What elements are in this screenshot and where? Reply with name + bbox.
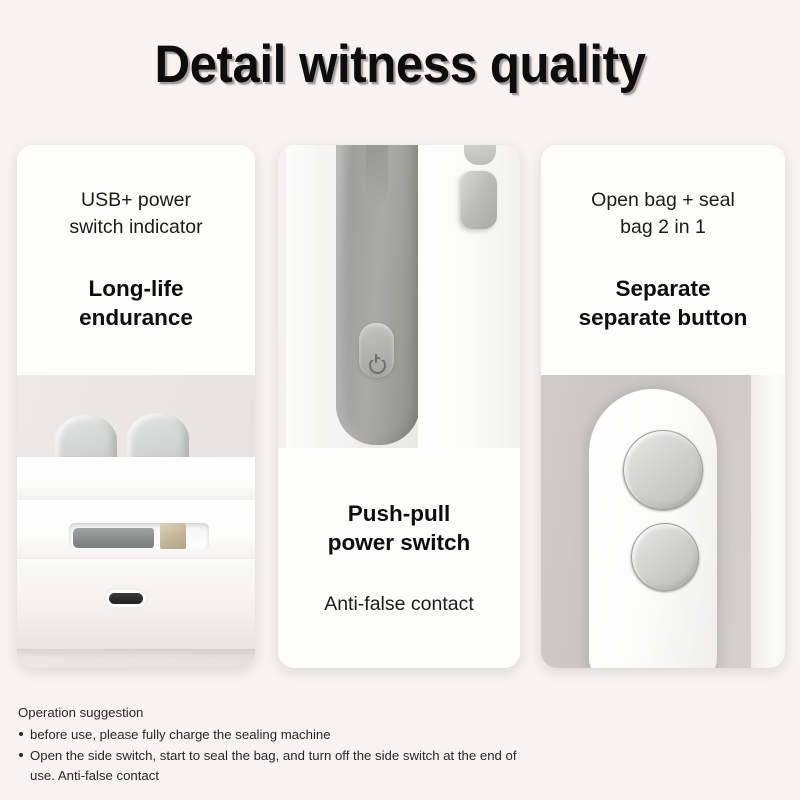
page-title: Detail witness quality: [154, 38, 645, 91]
power-button[interactable]: [359, 323, 394, 378]
card-2-caption-light-line1: Anti-false contact: [324, 591, 474, 617]
card-1-caption-bold-line2: endurance: [79, 303, 193, 332]
usb-c-port-icon: [109, 593, 143, 604]
card-1-product-photo: [17, 375, 255, 668]
side-clip: [461, 171, 497, 229]
card-1-text-block: USB+ power switch indicator Long-life en…: [17, 145, 255, 375]
footer-title: Operation suggestion: [18, 703, 538, 723]
power-icon: [368, 354, 385, 371]
card-2-caption-bold-line2: power switch: [328, 528, 471, 557]
feature-card-push-pull-switch[interactable]: Push-pull power switch Anti-false contac…: [278, 145, 520, 668]
card-3-product-photo: [541, 375, 785, 668]
handle-groove: [366, 145, 388, 205]
page-title-container: Detail witness quality: [0, 38, 800, 91]
card-1-caption-light-line2: switch indicator: [69, 214, 202, 240]
feature-card-row: USB+ power switch indicator Long-life en…: [0, 145, 800, 670]
card-1-caption-light-line1: USB+ power: [81, 187, 191, 213]
round-button-bottom[interactable]: [631, 523, 699, 591]
card-3-caption-bold-line1: Separate: [615, 274, 710, 303]
card-2-caption-bold-line1: Push-pull: [348, 499, 451, 528]
footer-item: Open the side switch, start to seal the …: [18, 746, 538, 786]
round-button-top[interactable]: [623, 430, 703, 510]
card-3-caption-light-line2: bag 2 in 1: [620, 214, 706, 240]
card-1-caption-bold-line1: Long-life: [89, 274, 184, 303]
feature-card-usb-power[interactable]: USB+ power switch indicator Long-life en…: [17, 145, 255, 668]
card-3-caption-light-line1: Open bag + seal: [591, 187, 735, 213]
operation-suggestion-block: Operation suggestion before use, please …: [18, 703, 538, 786]
card-3-text-block: Open bag + seal bag 2 in 1 Separate sepa…: [541, 145, 785, 375]
card-2-product-photo: [278, 145, 520, 448]
sealer-heating-bar: [73, 528, 154, 548]
card-3-caption-bold-line2: separate button: [579, 303, 748, 332]
card-2-text-block: Push-pull power switch Anti-false contac…: [278, 448, 520, 668]
feature-card-separate-button[interactable]: Open bag + seal bag 2 in 1 Separate sepa…: [541, 145, 785, 668]
footer-item: before use, please fully charge the seal…: [18, 725, 538, 745]
sealer-gold-contact: [160, 523, 186, 549]
housing-right-edge: [751, 375, 785, 668]
